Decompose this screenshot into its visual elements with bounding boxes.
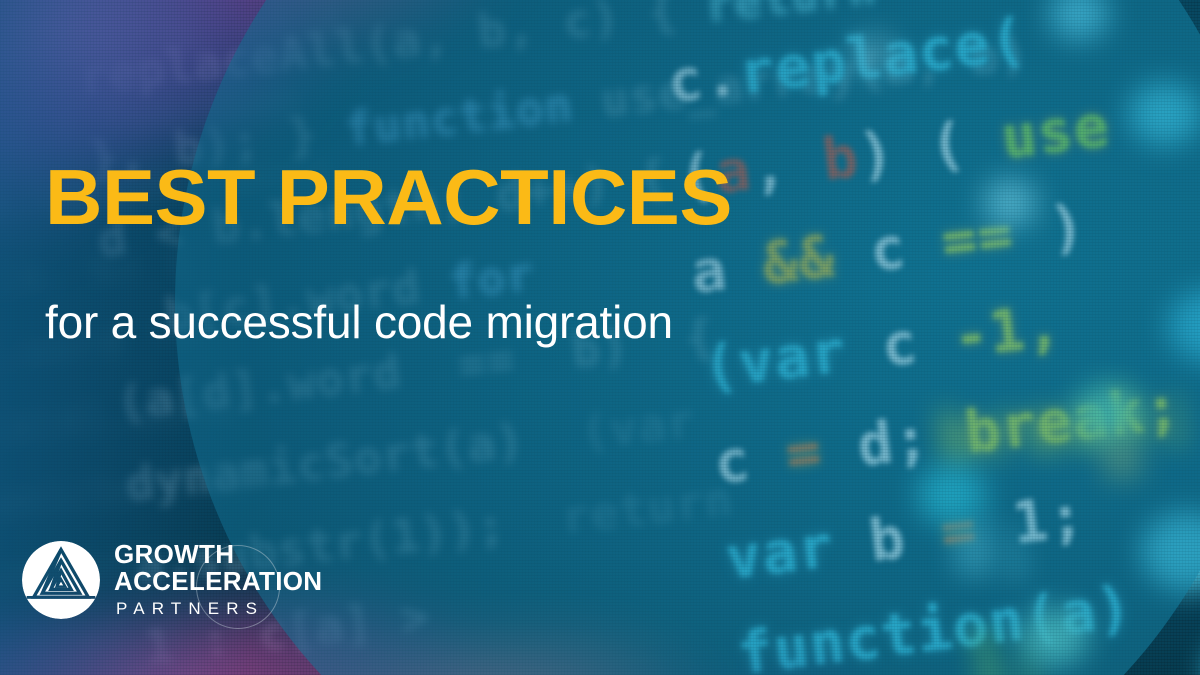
- brand-line-growth: GROWTH: [114, 541, 322, 568]
- page-title: BEST PRACTICES: [45, 158, 732, 236]
- nested-triangle-icon: [22, 541, 100, 619]
- brand-logo[interactable]: GROWTH ACCELERATION PARTNERS: [22, 539, 322, 621]
- banner-content: BEST PRACTICES for a successful code mig…: [0, 0, 1200, 675]
- brand-line-acceleration: ACCELERATION: [114, 568, 322, 595]
- brand-line-partners: PARTNERS: [114, 596, 322, 622]
- brand-wordmark: GROWTH ACCELERATION PARTNERS: [114, 539, 322, 621]
- page-subtitle: for a successful code migration: [45, 296, 673, 349]
- best-practices-banner: replaceAll(a, b, c) { }, b); } function …: [0, 0, 1200, 675]
